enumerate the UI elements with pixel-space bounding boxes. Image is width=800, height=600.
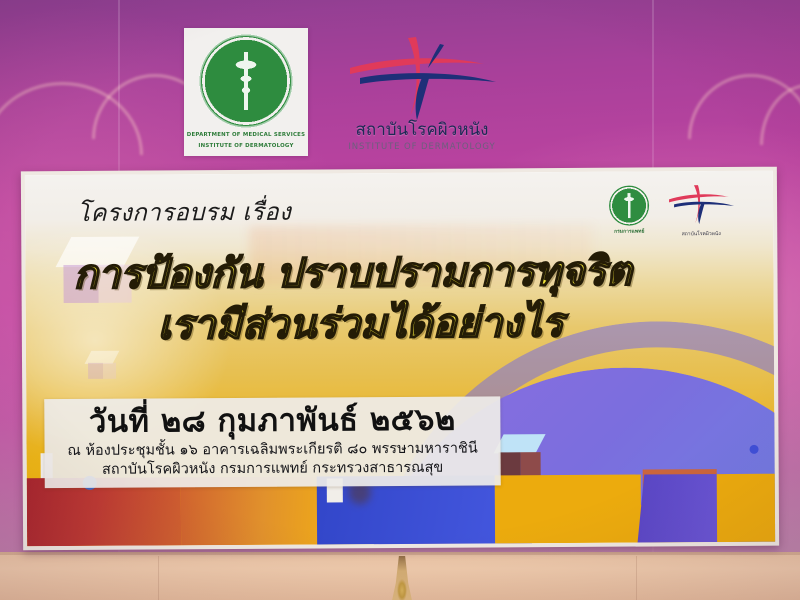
floor-seam bbox=[0, 552, 800, 555]
color-band-yellow bbox=[495, 475, 641, 544]
event-date: วันที่ ๒๘ กุมภาพันธ์ ๒๕๖๒ bbox=[44, 401, 500, 442]
seal-ring bbox=[199, 34, 293, 128]
event-venue-line-2: สถาบันโรคผิวหนัง กรมการแพทย์ กระทรวงสาธา… bbox=[45, 458, 501, 480]
moph-seal-icon bbox=[609, 185, 649, 225]
decorative-cube bbox=[498, 434, 540, 476]
floor-panel-line bbox=[158, 556, 159, 600]
event-banner: กรมการแพทย์ สถาบันโรคผิวหนัง โครงการอบรม… bbox=[21, 167, 779, 551]
banner-artwork: กรมการแพทย์ สถาบันโรคผิวหนัง โครงการอบรม… bbox=[25, 171, 775, 547]
color-band-yellow bbox=[717, 474, 775, 542]
decorative-cube bbox=[88, 351, 116, 379]
seal-caption-line2: INSTITUTE OF DERMATOLOGY bbox=[198, 142, 293, 150]
banner-institute-caption: สถาบันโรคผิวหนัง bbox=[665, 230, 737, 238]
dermatology-brush-cross-icon bbox=[344, 34, 504, 122]
banner-institute-logo: สถาบันโรคผิวหนัง bbox=[665, 183, 737, 238]
floor-panel-line bbox=[636, 556, 637, 600]
seal-caption-line1: DEPARTMENT OF MEDICAL SERVICES bbox=[187, 131, 306, 139]
event-venue-line-1: ณ ห้องประชุมชั้น ๑๖ อาคารเฉลิมพระเกียรติ… bbox=[45, 439, 501, 461]
institute-of-dermatology-logo: สถาบันโรคผิวหนัง INSTITUTE OF DERMATOLOG… bbox=[336, 34, 508, 160]
headline-line-2: เรามีส่วนร่วมได้อย่างไร bbox=[26, 298, 774, 351]
headline-line-1: การป้องกัน ปราบปรามการทุจริต bbox=[25, 247, 773, 300]
banner-headline: การป้องกัน ปราบปรามการทุจริต เรามีส่วนร่… bbox=[25, 247, 774, 351]
color-band-purple bbox=[638, 474, 727, 543]
banner-moph-logo: กรมการแพทย์ bbox=[601, 185, 657, 235]
moph-caduceus-seal-icon bbox=[199, 34, 293, 128]
banner-moph-caption: กรมการแพทย์ bbox=[601, 227, 657, 235]
decorative-blue-dot bbox=[750, 445, 759, 454]
event-details-box: วันที่ ๒๘ กุมภาพันธ์ ๒๕๖๒ ณ ห้องประชุมชั… bbox=[44, 396, 501, 488]
institute-name-en: INSTITUTE OF DERMATOLOGY bbox=[336, 142, 508, 152]
dermatology-brush-cross-icon bbox=[665, 183, 737, 225]
photo-scene: DEPARTMENT OF MEDICAL SERVICES INSTITUTE… bbox=[0, 0, 800, 600]
institute-name-th: สถาบันโรคผิวหนัง bbox=[336, 120, 508, 140]
banner-kicker: โครงการอบรม เรื่อง bbox=[77, 192, 291, 232]
ministry-of-public-health-seal-card: DEPARTMENT OF MEDICAL SERVICES INSTITUTE… bbox=[184, 28, 308, 156]
